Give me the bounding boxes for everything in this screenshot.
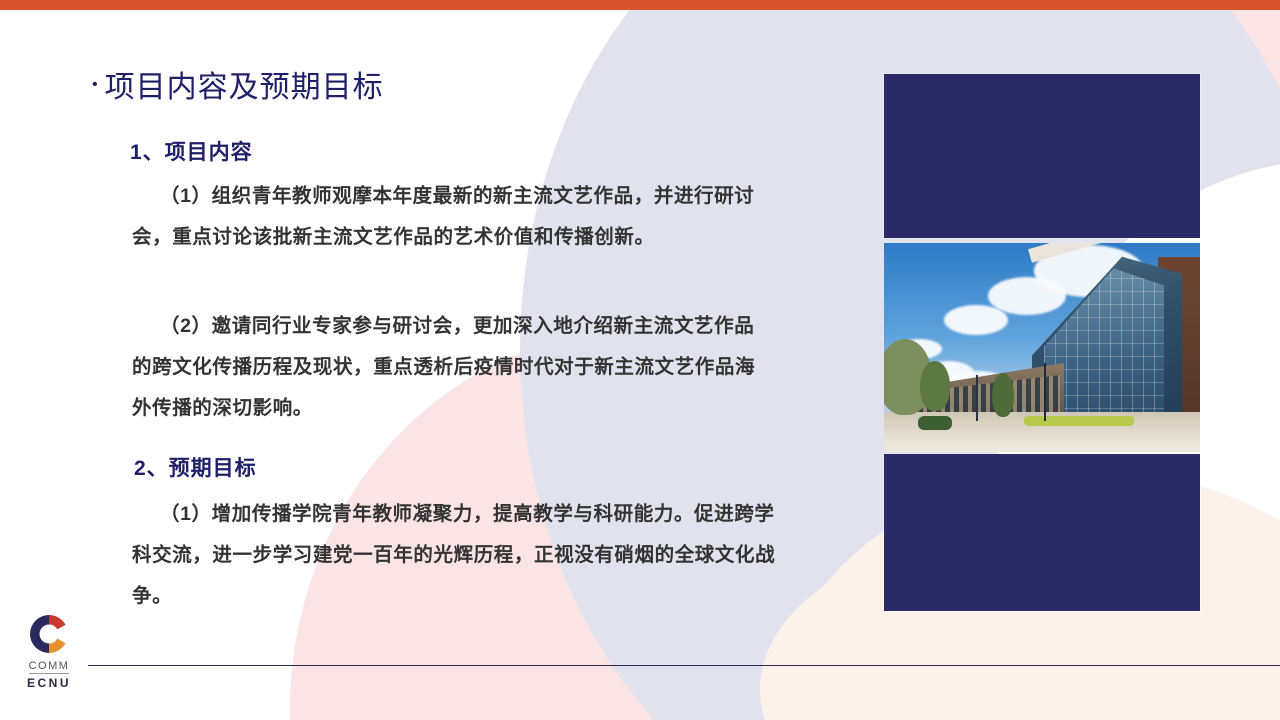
slide-canvas: •项目内容及预期目标 1、项目内容 （1）组织青年教师观摩本年度最新的新主流文艺… [0, 0, 1280, 720]
logo-text-ecnu: ECNU [16, 676, 82, 690]
photo-hedge [918, 416, 952, 430]
campus-building-photo[interactable] [884, 243, 1200, 452]
footer-logo: COMM ECNU [16, 612, 82, 690]
photo-lamp-post [1044, 363, 1046, 421]
c-monogram-icon [27, 612, 71, 656]
section-heading-2: 2、预期目标 [134, 452, 257, 482]
section-1-paragraph-2: （2）邀请同行业专家参与研讨会，更加深入地介绍新主流文艺作品的跨文化传播历程及现… [132, 306, 762, 429]
photo-tree [920, 361, 950, 411]
image-placeholder-top[interactable] [884, 74, 1200, 238]
media-column [884, 74, 1200, 611]
page-title: •项目内容及预期目标 [92, 62, 384, 106]
photo-lamp-post [976, 375, 978, 421]
content-column: •项目内容及预期目标 1、项目内容 （1）组织青年教师观摩本年度最新的新主流文艺… [0, 0, 860, 720]
photo-grass-strip [1024, 416, 1134, 426]
bullet-icon: • [92, 76, 99, 93]
logo-text-comm: COMM [29, 660, 70, 674]
section-2-paragraph-1: （1）增加传播学院青年教师凝聚力，提高教学与科研能力。促进跨学科交流，进一步学习… [132, 494, 780, 617]
image-placeholder-bottom[interactable] [884, 454, 1200, 611]
page-title-text: 项目内容及预期目标 [105, 71, 384, 104]
photo-cloud [944, 305, 1008, 335]
photo-tree [992, 373, 1014, 417]
section-1-paragraph-1: （1）组织青年教师观摩本年度最新的新主流文艺作品，并进行研讨会，重点讨论该批新主… [132, 176, 762, 258]
section-heading-1: 1、项目内容 [130, 136, 253, 166]
